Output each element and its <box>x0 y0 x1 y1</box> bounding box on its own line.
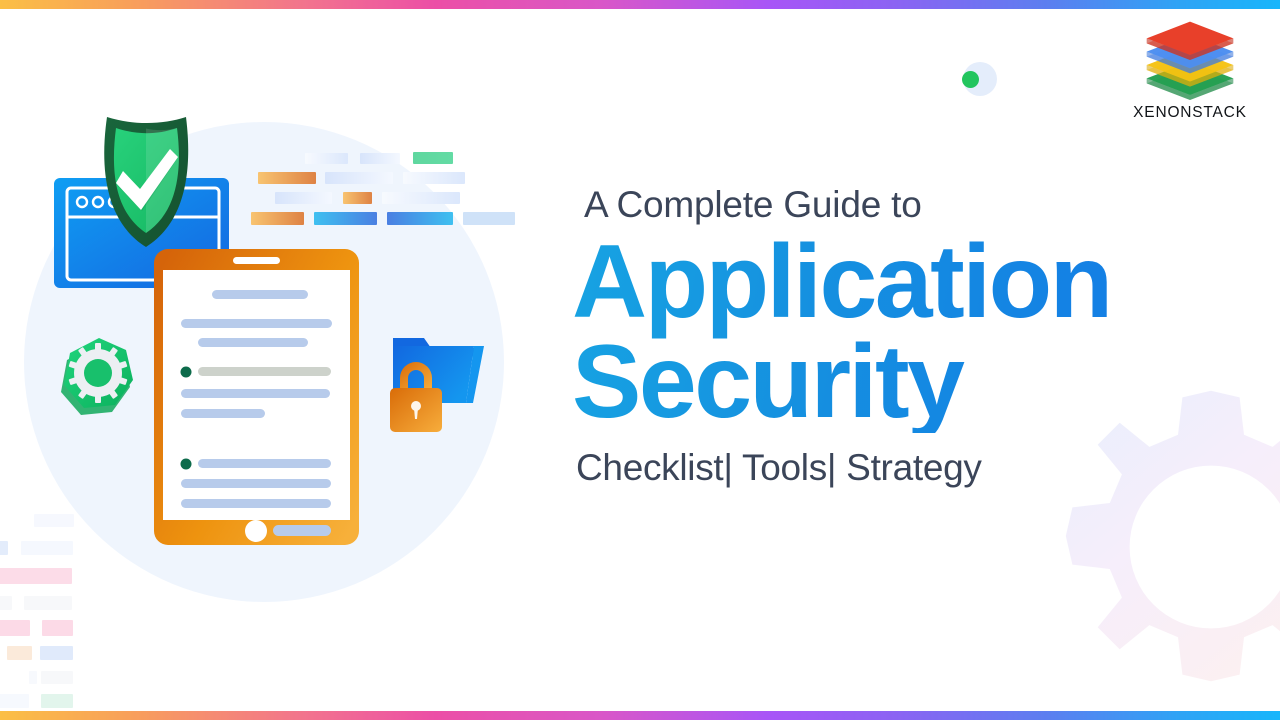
top-gradient-rule <box>0 0 1280 9</box>
headline-text: Application Security <box>572 233 1212 433</box>
banner-canvas: XENONSTACK <box>0 0 1280 720</box>
bottom-gradient-rule <box>0 711 1280 720</box>
tablet-document <box>154 249 359 545</box>
brand-wordmark: XENONSTACK <box>1133 104 1247 122</box>
application-security-illustration <box>20 95 520 575</box>
stack-layers-icon <box>1140 18 1240 102</box>
green-status-dot <box>962 71 979 88</box>
bullet-dot <box>181 459 192 470</box>
xenonstack-logo[interactable]: XENONSTACK <box>1118 18 1262 134</box>
headline-line-2: Security <box>572 333 1212 433</box>
folder-lock-icon <box>390 338 484 432</box>
headline-block: A Complete Guide to Application Security… <box>572 186 1212 488</box>
code-snippet-decoration <box>251 152 515 225</box>
subline-text: Checklist| Tools| Strategy <box>576 449 1212 488</box>
headline-line-1: Application <box>572 224 1111 340</box>
bullet-dot <box>181 367 192 378</box>
gear-badge-icon <box>61 338 133 415</box>
eyebrow-text: A Complete Guide to <box>584 186 1212 223</box>
